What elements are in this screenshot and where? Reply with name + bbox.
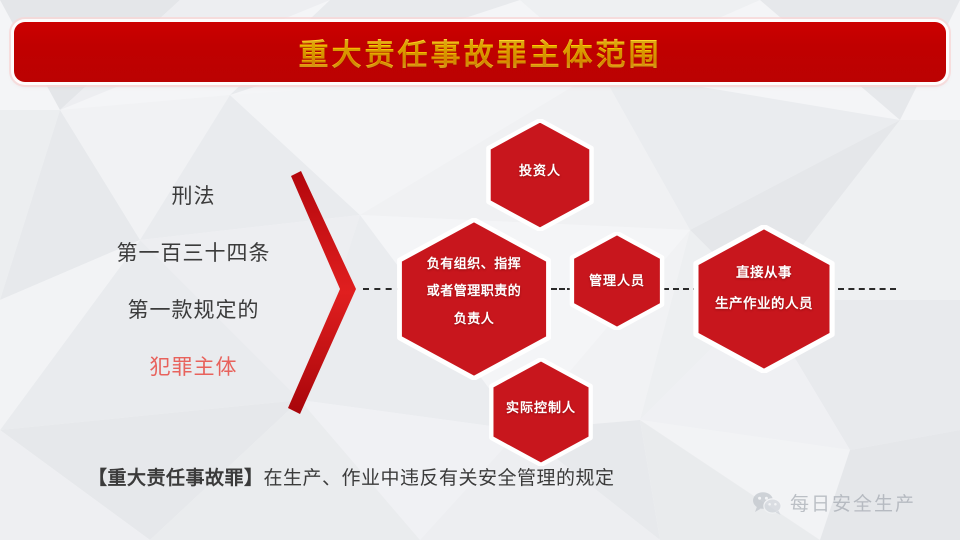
connector-dash-right	[838, 288, 896, 290]
caption-body: 在生产、作业中违反有关安全管理的规定	[264, 468, 615, 489]
watermark-text: 每日安全生产	[790, 489, 916, 516]
slide-caption: 【重大责任事故罪】在生产、作业中违反有关安全管理的规定	[88, 463, 615, 490]
hexagon-investor[interactable]: 投资人	[484, 119, 596, 223]
hexagon-management-personnel[interactable]: 管理人员	[568, 232, 666, 330]
legal-reference-block: 刑法 第一百三十四条 第一款规定的 犯罪主体	[86, 186, 301, 378]
legal-reference-line-3: 第一款规定的	[86, 300, 301, 321]
slide-title-bar: 重大责任事故罪主体范围	[14, 22, 946, 82]
legal-reference-line-4: 犯罪主体	[86, 357, 301, 378]
hexagon-responsible-person[interactable]: 负有组织、指挥 或者管理职责的 负责人	[393, 218, 555, 364]
caption-bracket: 【重大责任事故罪】	[88, 468, 264, 489]
wechat-icon	[752, 491, 782, 515]
hexagon-actual-controller[interactable]: 实际控制人	[487, 358, 595, 458]
hexagon-production-worker[interactable]: 直接从事 生产作业的人员	[690, 225, 838, 351]
legal-reference-line-1: 刑法	[86, 186, 301, 207]
legal-reference-line-2: 第一百三十四条	[86, 243, 301, 264]
red-chevron-arrow	[280, 165, 370, 420]
slide-canvas: 重大责任事故罪主体范围 刑法 第一百三十四条 第一款规定的 犯罪主体 投资人	[0, 0, 960, 540]
page-title: 重大责任事故罪主体范围	[299, 30, 662, 74]
watermark: 每日安全生产	[752, 489, 916, 516]
